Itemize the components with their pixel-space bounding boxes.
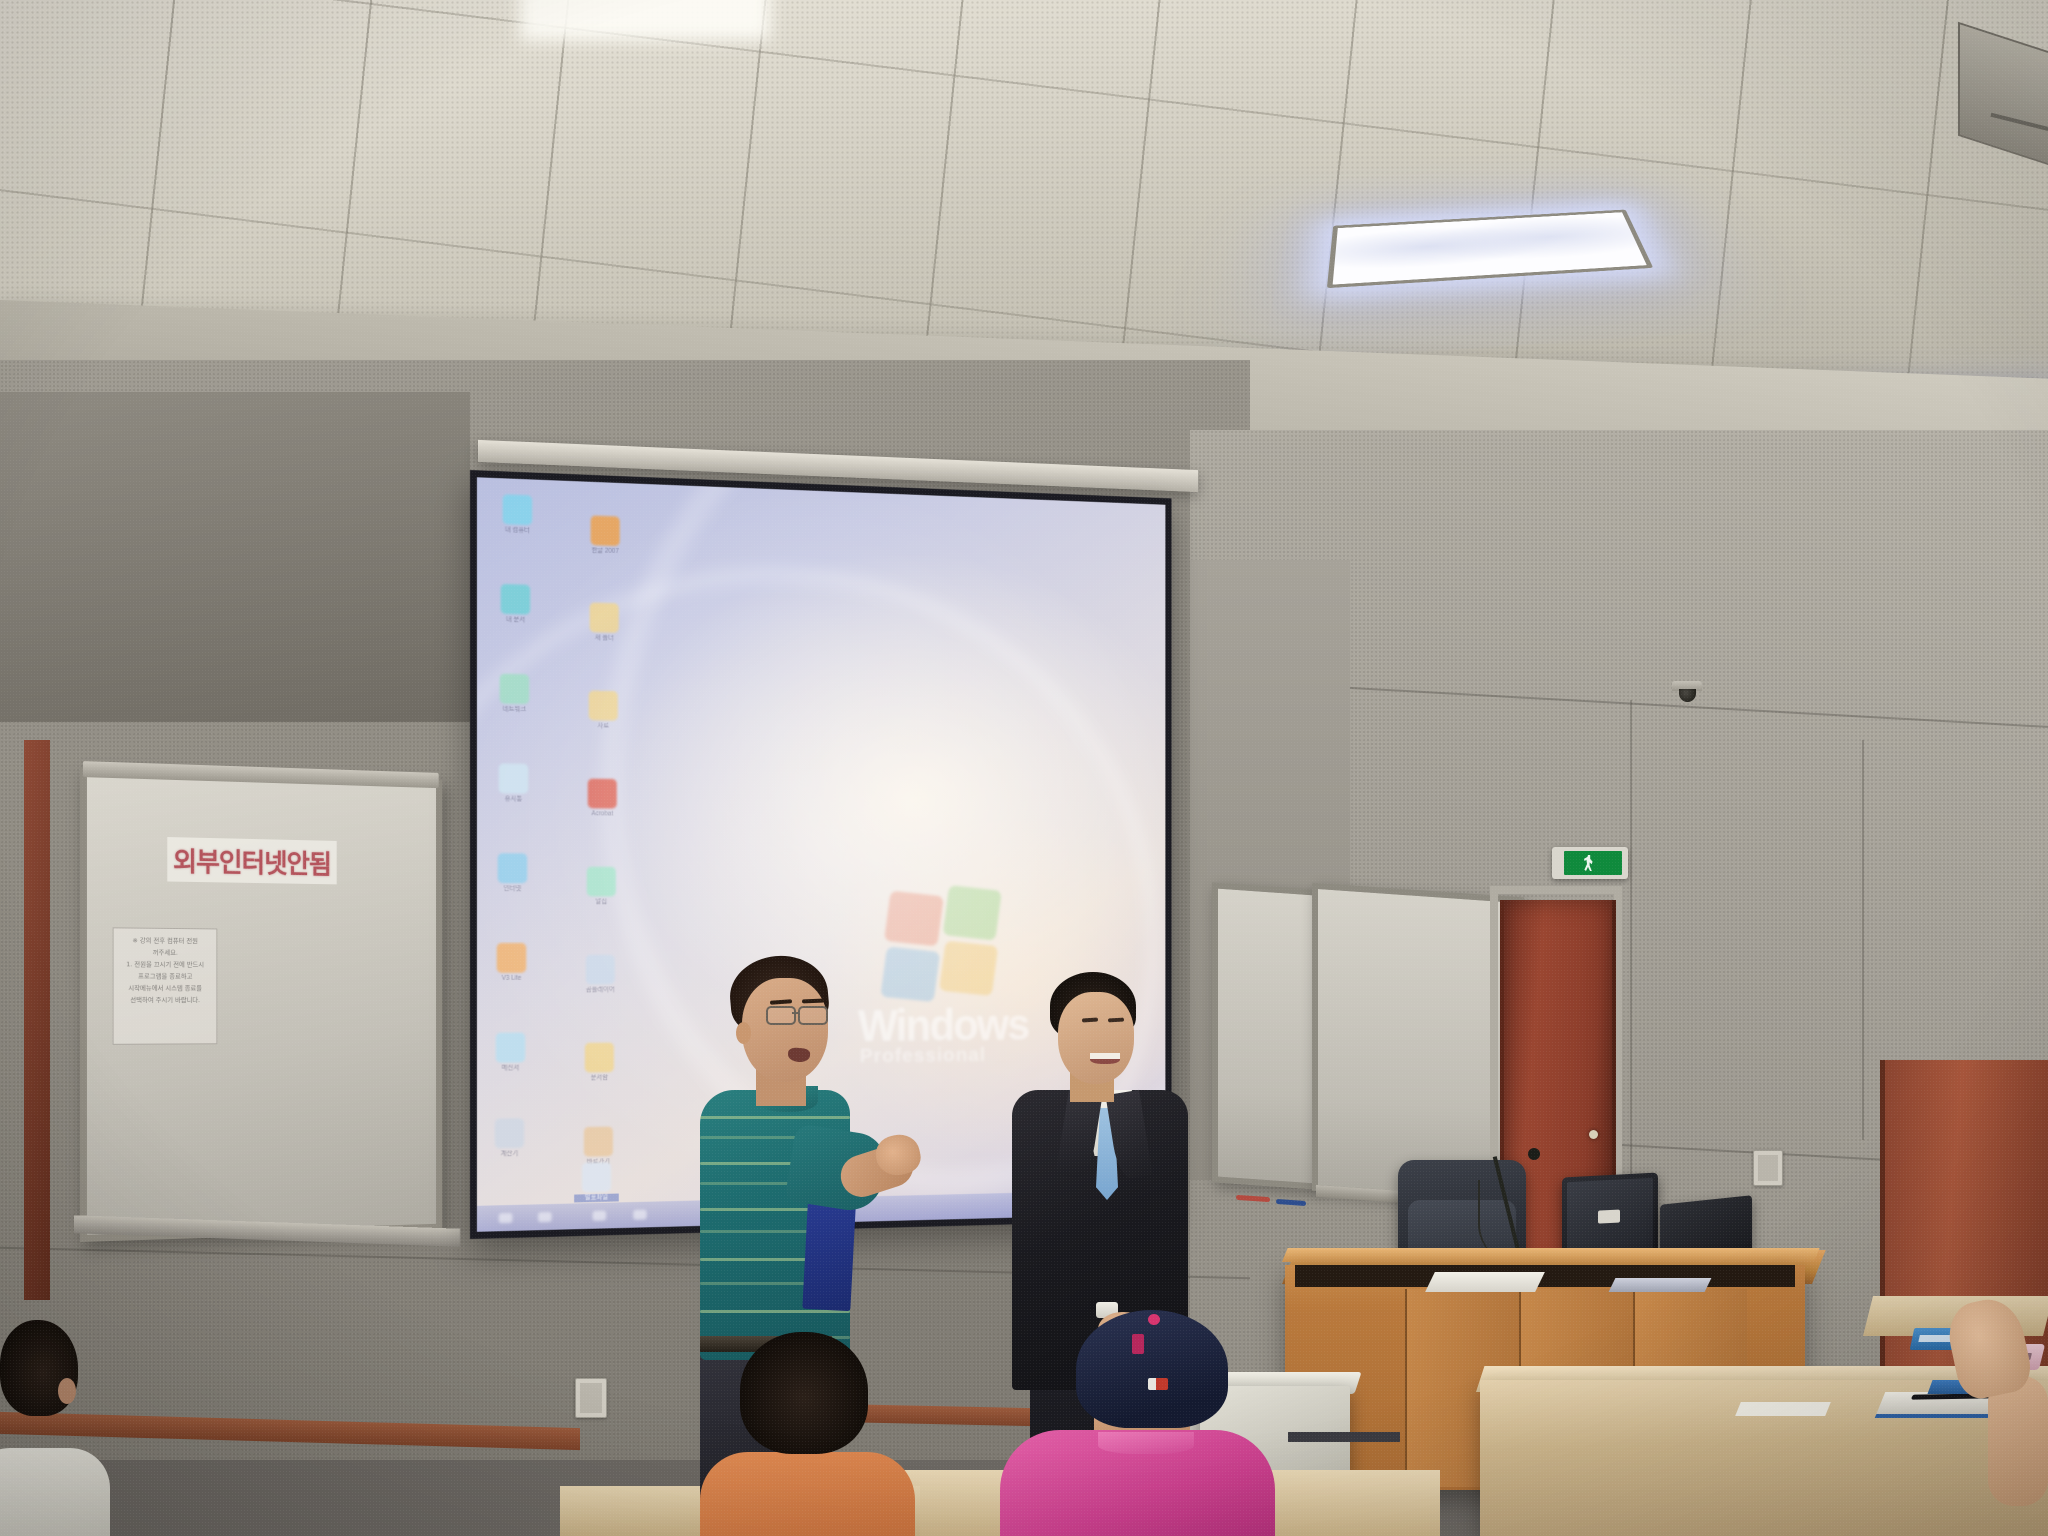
wall-seam-v2 — [1862, 740, 1864, 1140]
speaker-eyebrow — [802, 999, 824, 1004]
suit-man-eye — [1108, 1018, 1124, 1023]
desktop-icon-label: V3 Lite — [489, 975, 534, 983]
desktop-icon-glyph — [586, 955, 615, 985]
desktop-icon-label: 내 컴퓨터 — [495, 526, 540, 536]
taskbar-item[interactable] — [499, 1213, 513, 1223]
audience-center-head — [740, 1332, 868, 1454]
desktop-icon-label: 인터넷 — [490, 885, 535, 893]
power-outlet-plate[interactable] — [575, 1378, 607, 1418]
suit-man-smile — [1090, 1053, 1120, 1064]
desktop-icon[interactable]: 바로가기 — [576, 1126, 621, 1166]
desktop-icon-label: 내 문서 — [493, 616, 538, 625]
desktop-icon-glyph — [589, 691, 618, 721]
desktop-icon-label: 네트워크 — [492, 705, 537, 714]
podium-recess — [1295, 1265, 1795, 1287]
taskbar-item[interactable] — [593, 1211, 607, 1221]
taskbar-item[interactable] — [538, 1212, 552, 1222]
wall-seam-v1 — [1630, 700, 1632, 1180]
desktop-icon-label: 계산기 — [487, 1150, 532, 1159]
notice-line: 시작메뉴에서 시스템 종료를 — [118, 982, 213, 994]
desktop-icon[interactable]: 인터넷 — [490, 853, 535, 893]
exit-sign-green-field — [1564, 851, 1622, 875]
windows-logo-icon — [887, 893, 1023, 1009]
cap-button-icon — [1148, 1314, 1160, 1325]
desktop-icon[interactable]: 새 폴더 — [582, 602, 627, 643]
no-external-internet-sign: 외부인터넷안됨 — [167, 837, 336, 884]
desktop-icon[interactable]: 문서함 — [577, 1043, 622, 1083]
audience-left-ear — [58, 1378, 76, 1404]
desktop-icon-label: 자료 — [581, 722, 626, 731]
desktop-icon-glyph — [496, 1033, 526, 1063]
baseball-cap — [1076, 1310, 1228, 1428]
desktop-icon-selected[interactable]: 발표파일 — [574, 1162, 619, 1203]
desktop-icon-label: 발표파일 — [574, 1194, 619, 1203]
desktop-icon[interactable]: 내 문서 — [493, 584, 538, 625]
desktop-icon[interactable]: 휴지통 — [491, 763, 536, 803]
desktop-icon-glyph — [495, 1118, 525, 1148]
desktop-icon-label: 문서함 — [577, 1074, 622, 1082]
desktop-icon-label: Acrobat — [580, 810, 625, 818]
desktop-icon[interactable]: V3 Lite — [489, 943, 534, 983]
speaker-face — [742, 978, 828, 1082]
desktop-icon-label: 한글 2007 — [583, 547, 628, 556]
printer-paper-tray[interactable] — [1285, 1442, 1405, 1468]
notice-line: 프로그램을 종료하고 — [118, 970, 213, 982]
whiteboard-right-a — [1212, 882, 1320, 1190]
desktop-icon[interactable]: Acrobat — [580, 778, 625, 818]
monitor-logo — [1598, 1210, 1620, 1224]
audience-center-shirt — [700, 1452, 915, 1536]
paper-sheet — [1425, 1272, 1545, 1292]
audience-cap-collar — [1098, 1432, 1194, 1454]
desktop-icon-glyph — [591, 515, 620, 546]
computer-shutdown-notice: ※ 강의 전후 컴퓨터 전원 꺼주세요. 1. 전원을 끄시기 전에 반드시 프… — [113, 927, 218, 1044]
ceiling-light-glow-edge — [520, 0, 770, 40]
desktop-icon-glyph — [500, 674, 530, 705]
desktop-icon[interactable]: 계산기 — [487, 1118, 532, 1159]
desktop-icon[interactable]: 알집 — [579, 867, 624, 907]
paper-on-right-desk — [1735, 1402, 1831, 1416]
desktop-icon-glyph — [582, 1162, 611, 1192]
desktop-icon-glyph — [503, 494, 532, 525]
audience-left-shirt — [0, 1448, 110, 1536]
desktop-icon[interactable]: 메신저 — [488, 1032, 533, 1072]
wall-panel-upper-left — [0, 392, 470, 722]
taskbar-item[interactable] — [633, 1210, 646, 1220]
desktop-icon-label: 새 폴더 — [582, 634, 627, 643]
desktop-icon-label: 곰플레이어 — [578, 986, 623, 994]
desktop-icon-glyph — [499, 763, 529, 793]
windows-edition: Professional — [860, 1044, 986, 1068]
speaker-ear — [736, 1022, 751, 1044]
desktop-icon-glyph — [585, 1043, 614, 1073]
suit-man-face — [1058, 992, 1134, 1084]
raised-forearm — [1988, 1376, 2048, 1506]
microphone-head-icon — [1528, 1148, 1540, 1160]
desktop-icon-glyph — [588, 779, 617, 809]
dome-camera-icon — [1672, 681, 1702, 691]
whiteboard-left: 외부인터넷안됨 ※ 강의 전후 컴퓨터 전원 꺼주세요. 1. 전원을 끄시기 … — [80, 768, 442, 1242]
desktop-icon[interactable]: 곰플레이어 — [578, 955, 623, 995]
desktop-icon-glyph — [497, 943, 527, 973]
desktop-icon-glyph — [590, 602, 619, 632]
mlb-logo-icon — [1148, 1378, 1168, 1390]
running-person-icon — [1584, 855, 1594, 871]
desktop-icon-glyph — [587, 867, 616, 897]
desktop-icon-glyph — [584, 1127, 613, 1157]
paper-sheet — [1609, 1278, 1712, 1292]
notice-line: ※ 강의 전후 컴퓨터 전원 — [118, 934, 213, 947]
desktop-icon[interactable]: 네트워크 — [492, 673, 537, 714]
desktop-icon-label: 알집 — [579, 898, 624, 906]
door-knob[interactable] — [1589, 1130, 1598, 1139]
whiteboard-left-door-edge — [24, 740, 50, 1300]
notice-line: 선택하여 주시기 바랍니다. — [118, 994, 213, 1006]
desktop-icon[interactable]: 내 컴퓨터 — [495, 494, 540, 535]
light-switch-plate[interactable] — [1753, 1150, 1783, 1186]
podium-surface-edge — [1282, 1248, 1820, 1262]
desktop-icon-label: 휴지통 — [491, 795, 536, 803]
eyeglasses-icon — [766, 1006, 830, 1021]
cap-strap — [1132, 1334, 1144, 1354]
desktop-icon-glyph — [501, 584, 531, 615]
desktop-icon[interactable]: 자료 — [581, 690, 626, 730]
notice-line: 1. 전원을 끄시기 전에 반드시 — [118, 958, 213, 970]
classroom-photo: 외부인터넷안됨 ※ 강의 전후 컴퓨터 전원 꺼주세요. 1. 전원을 끄시기 … — [0, 0, 2048, 1536]
desktop-icon-label: 메신저 — [488, 1064, 533, 1073]
printer-output-slot — [1288, 1432, 1400, 1442]
emergency-exit-sign — [1552, 847, 1628, 879]
desktop-icon-glyph — [498, 853, 528, 883]
desktop-icon[interactable]: 한글 2007 — [583, 515, 628, 556]
notice-line: 꺼주세요. — [118, 946, 213, 959]
